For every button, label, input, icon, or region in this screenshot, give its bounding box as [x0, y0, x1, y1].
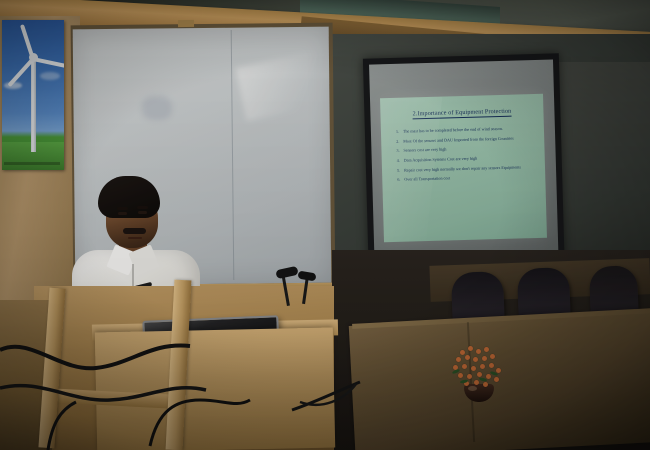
presenter-mustache: [123, 228, 146, 234]
seminar-room-photo: 2.Importance of Equipment Protection 1.T…: [0, 0, 650, 450]
cables: [0, 250, 650, 450]
poster-bottom-edge: [4, 162, 60, 165]
turbine-hub: [29, 53, 38, 62]
presenter-hair: [98, 176, 160, 218]
presenter-eye: [118, 212, 127, 215]
whiteboard-clip: [178, 20, 194, 27]
presenter-eye: [138, 211, 147, 214]
poster-cloud: [40, 72, 60, 80]
screen-light-sheen: [380, 94, 443, 242]
whiteboard-smudge: [142, 96, 172, 120]
projection-screen: 2.Importance of Equipment Protection 1.T…: [380, 94, 547, 242]
turbine-tower: [31, 56, 36, 152]
presenter-mouth: [128, 237, 142, 239]
right-wall-panel: [556, 62, 650, 276]
wind-turbine-poster: [2, 20, 64, 170]
presenter-eyebrow: [137, 206, 148, 209]
presenter-eyebrow: [117, 207, 128, 210]
